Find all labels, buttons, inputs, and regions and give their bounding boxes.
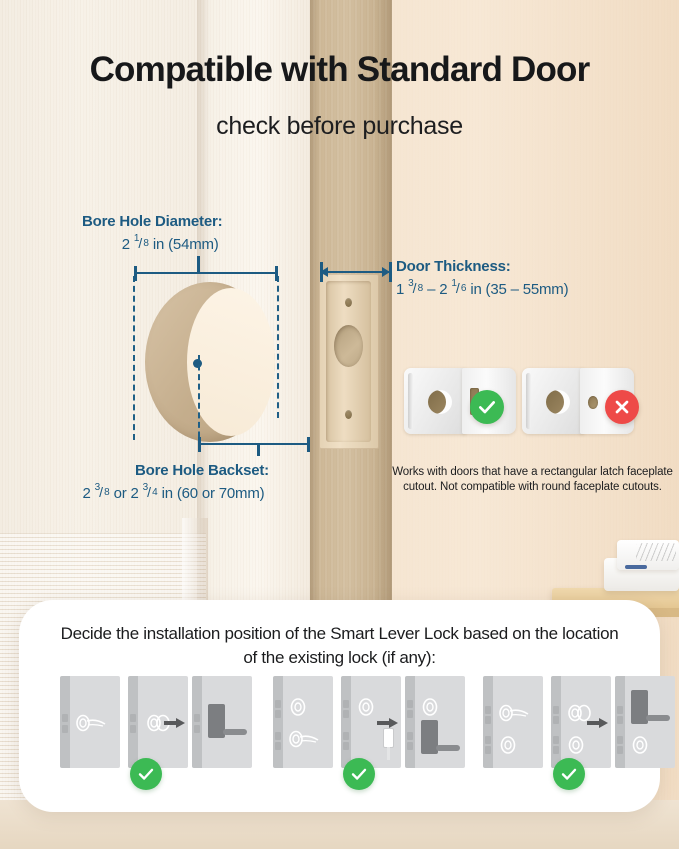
thickness-extension-right <box>389 262 392 282</box>
screw-hole-top <box>345 298 352 307</box>
bore-hole-render <box>428 390 452 414</box>
latch-marker <box>485 746 491 754</box>
value-whole: 2 <box>122 236 130 253</box>
latch-marker <box>275 700 281 708</box>
latch-marker <box>617 746 623 754</box>
installation-option-2 <box>253 676 466 800</box>
latch-marker <box>617 716 623 724</box>
door-illustration-result <box>192 676 252 768</box>
latch-marker <box>617 706 623 714</box>
door-illustration-existing <box>60 676 120 768</box>
latch-marker <box>62 714 68 722</box>
latch-plate-icon <box>383 728 394 748</box>
screw-hole-bottom <box>345 410 352 419</box>
latch-marker <box>194 714 200 722</box>
page-subtitle: check before purchase <box>0 112 679 141</box>
backset-label-tick <box>257 443 260 456</box>
latch-bolt-icon <box>387 747 390 760</box>
lever-handle-icon <box>289 728 319 750</box>
deadbolt-icon <box>631 734 653 756</box>
cross-icon <box>605 390 639 424</box>
thickness-extension-left <box>320 262 323 282</box>
latch-marker <box>343 710 349 718</box>
value-whole-2: 2 <box>130 485 138 502</box>
latch-marker <box>485 736 491 744</box>
thickness-dimension-line <box>322 271 390 273</box>
diameter-dimension-line <box>135 272 278 274</box>
bore-hole-backset-title: Bore Hole Backset: <box>135 462 269 479</box>
box-label-stripe <box>625 565 647 569</box>
arrow-right-icon <box>587 718 609 728</box>
latch-marker <box>194 725 200 733</box>
check-icon <box>470 390 504 424</box>
door-illustration-existing <box>483 676 543 768</box>
latch-marker <box>553 746 559 754</box>
installation-card-title: Decide the installation position of the … <box>59 622 620 670</box>
latch-marker <box>343 742 349 750</box>
fraction-three-quarters: 3 / 4 <box>143 483 158 498</box>
door-face-render <box>522 368 584 434</box>
bore-hole-diameter-title: Bore Hole Diameter: <box>82 213 222 230</box>
latch-marker <box>343 700 349 708</box>
deadbolt-icon <box>289 696 311 718</box>
backset-tick-right <box>307 437 310 452</box>
faceplate-comparison-caption: Works with doors that have a rectangular… <box>390 465 675 494</box>
bore-hole-render <box>546 390 570 414</box>
product-infographic: Compatible with Standard Door check befo… <box>0 0 679 849</box>
fraction-one-sixth: 1 / 6 <box>451 279 466 294</box>
installation-options <box>19 676 660 800</box>
page-title: Compatible with Standard Door <box>0 50 679 90</box>
diameter-tick-left <box>134 266 137 281</box>
latch-marker <box>553 706 559 714</box>
value-unit: in (60 or 70mm) <box>162 485 265 502</box>
lever-handle-icon <box>499 702 529 724</box>
installation-option-1 <box>40 676 253 800</box>
backset-tick-left <box>198 437 201 452</box>
bore-hole-illustration <box>145 282 275 442</box>
latch-marker <box>407 710 413 718</box>
door-thickness-value: 1 3 / 8 – 2 1 / 6 in (35 – 55mm) <box>396 279 568 298</box>
door-illustration-result <box>615 676 675 768</box>
latch-marker <box>343 732 349 740</box>
backset-center-guide <box>198 355 200 447</box>
latch-marker <box>275 732 281 740</box>
latch-marker <box>275 710 281 718</box>
diameter-guide-left <box>133 276 135 440</box>
arrow-right-icon <box>377 718 399 728</box>
installation-option-3 <box>463 676 676 800</box>
latch-marker <box>62 725 68 733</box>
value-whole-2: 2 <box>439 281 447 298</box>
latch-marker <box>130 725 136 733</box>
latch-marker <box>407 742 413 750</box>
latch-marker <box>617 736 623 744</box>
bore-hole-diameter-callout: Bore Hole Diameter: 2 1 / 8 in (54mm) <box>82 213 222 253</box>
fraction-three-eighths: 3 / 8 <box>408 279 423 294</box>
latch-marker <box>485 716 491 724</box>
latch-marker <box>130 714 136 722</box>
check-icon <box>343 758 375 790</box>
round-faceplate-cutout <box>588 396 598 409</box>
diameter-center-tick <box>197 256 200 272</box>
lever-handle-icon <box>76 712 106 734</box>
deadbolt-icon <box>567 734 589 756</box>
arrow-right-icon <box>164 718 186 728</box>
installation-card: Decide the installation position of the … <box>19 600 660 812</box>
door-thickness-callout: Door Thickness: 1 3 / 8 – 2 1 / 6 in (35… <box>396 258 568 298</box>
value-unit: in (35 – 55mm) <box>470 281 568 298</box>
latch-marker <box>407 732 413 740</box>
fraction-one-eighth: 1 / 8 <box>134 234 149 249</box>
conjunction: or <box>114 485 127 502</box>
diameter-tick-right <box>275 266 278 281</box>
diameter-guide-right <box>277 276 279 418</box>
latch-bore-hole <box>334 325 363 367</box>
check-icon <box>130 758 162 790</box>
door-face-render <box>404 368 466 434</box>
bore-hole-backset-value: 2 3 / 8 or 2 3 / 4 in (60 or 70mm) <box>78 483 269 502</box>
value-whole-1: 2 <box>82 485 90 502</box>
bore-hole-backset-callout: Bore Hole Backset: 2 3 / 8 or 2 3 / 4 in… <box>135 462 269 502</box>
value-unit: in (54mm) <box>153 236 219 253</box>
value-whole-1: 1 <box>396 281 404 298</box>
deadbolt-icon <box>499 734 521 756</box>
deadbolt-icon <box>421 696 443 718</box>
latch-marker <box>275 742 281 750</box>
backset-dimension-line <box>200 443 310 445</box>
deadbolt-icon <box>357 696 379 718</box>
box-pattern <box>636 543 676 561</box>
door-thickness-title: Door Thickness: <box>396 258 568 275</box>
latch-marker <box>553 716 559 724</box>
fraction-three-eighths: 3 / 8 <box>95 483 110 498</box>
range-dash: – <box>427 281 435 298</box>
door-illustration-existing <box>273 676 333 768</box>
latch-marker <box>407 700 413 708</box>
latch-marker <box>485 706 491 714</box>
check-icon <box>553 758 585 790</box>
latch-marker <box>553 736 559 744</box>
bore-hole-diameter-value: 2 1 / 8 in (54mm) <box>82 234 222 253</box>
door-illustration-result <box>405 676 465 768</box>
